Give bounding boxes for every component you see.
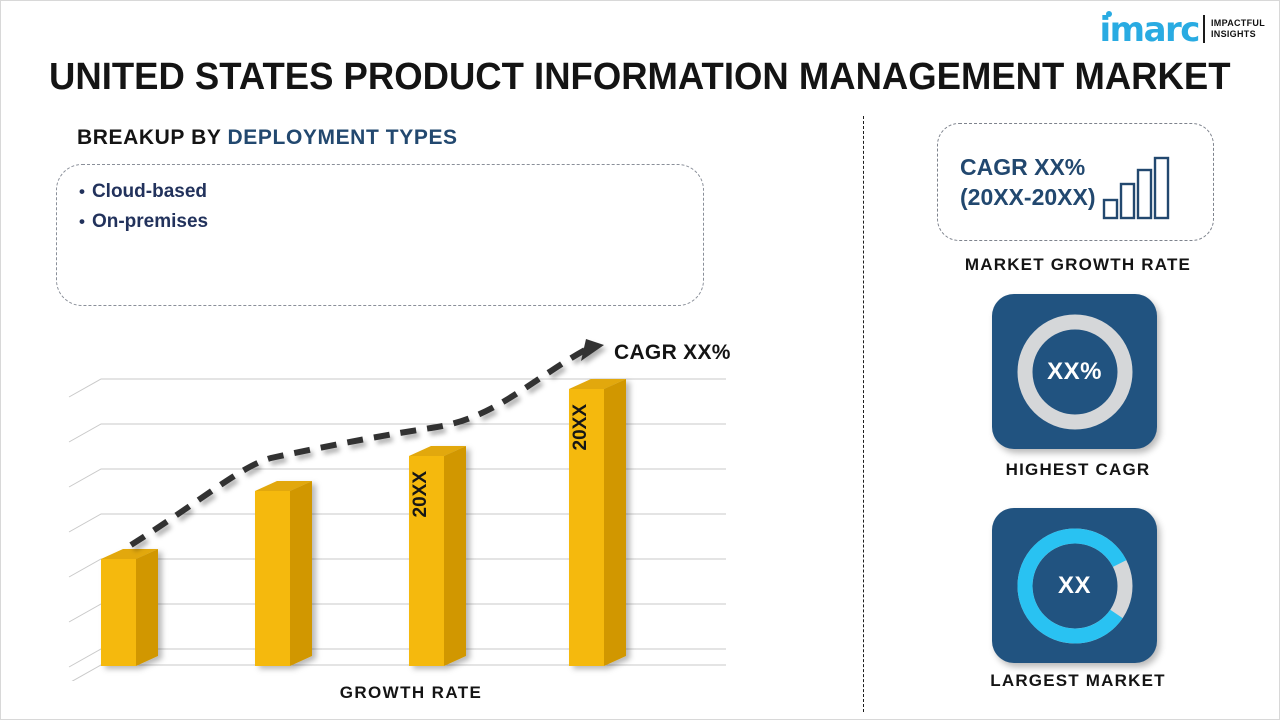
breakup-highlight: DEPLOYMENT TYPES: [228, 126, 458, 149]
highest-cagr-caption: HIGHEST CAGR: [898, 460, 1258, 480]
logo-dot-icon: [1106, 11, 1112, 17]
bullet-icon: •: [79, 207, 85, 237]
bar-1: [101, 549, 158, 666]
list-item: • Cloud-based: [79, 177, 208, 207]
cagr-period: (20XX-20XX): [960, 182, 1096, 212]
bullet-icon: •: [79, 177, 85, 207]
cagr-value: CAGR XX%: [960, 152, 1096, 182]
logo-wordmark: imarc: [1100, 15, 1199, 45]
bar-4-label: 20XX: [570, 404, 591, 451]
imarc-logo: imarc IMPACTFUL INSIGHTS: [1100, 9, 1265, 51]
breakup-prefix: BREAKUP BY: [77, 126, 221, 149]
logo-word-text: imarc: [1100, 15, 1199, 45]
list-item: • On-premises: [79, 207, 208, 237]
bar-4: 20XX: [569, 379, 626, 666]
cagr-text: CAGR XX% (20XX-20XX): [960, 152, 1096, 212]
logo-tagline-line1: IMPACTFUL: [1211, 18, 1265, 29]
largest-market-tile: XX: [992, 508, 1157, 663]
highest-cagr-tile: XX%: [992, 294, 1157, 449]
deployment-types-list: • Cloud-based • On-premises: [79, 177, 208, 237]
bar-3-label: 20XX: [410, 471, 431, 518]
highest-cagr-donut: XX%: [1009, 306, 1141, 438]
market-growth-rate-box: CAGR XX% (20XX-20XX): [937, 123, 1214, 241]
chart-baseline: [69, 665, 726, 681]
logo-divider: [1203, 15, 1205, 43]
chart-cagr-annotation: CAGR XX%: [614, 341, 731, 365]
breakup-heading: BREAKUP BY DEPLOYMENT TYPES: [77, 126, 458, 150]
infographic-page: imarc IMPACTFUL INSIGHTS UNITED STATES P…: [0, 0, 1280, 720]
deployment-types-box: • Cloud-based • On-premises: [56, 164, 704, 306]
bar-chart-svg: 20XX 20XX: [61, 331, 761, 681]
trend-arrow-icon: [581, 339, 604, 361]
largest-market-donut: XX: [1009, 520, 1141, 652]
growth-rate-bar-chart: 20XX 20XX CAGR XX% GROWTH RATE: [61, 331, 761, 701]
logo-tagline-line2: INSIGHTS: [1211, 29, 1265, 40]
largest-market-value: XX: [1009, 520, 1141, 652]
logo-tagline: IMPACTFUL INSIGHTS: [1211, 18, 1265, 43]
bar-3: 20XX: [409, 446, 466, 666]
chart-x-axis-label: GROWTH RATE: [61, 683, 761, 703]
market-growth-rate-caption: MARKET GROWTH RATE: [898, 255, 1258, 275]
highest-cagr-value: XX%: [1009, 306, 1141, 438]
section-divider: [863, 116, 864, 712]
list-item-label: On-premises: [92, 207, 208, 237]
list-item-label: Cloud-based: [92, 177, 207, 207]
bar-chart-icon: [1102, 156, 1172, 220]
page-title: UNITED STATES PRODUCT INFORMATION MANAGE…: [49, 56, 1124, 99]
largest-market-caption: LARGEST MARKET: [898, 671, 1258, 691]
bar-2: [255, 481, 312, 666]
